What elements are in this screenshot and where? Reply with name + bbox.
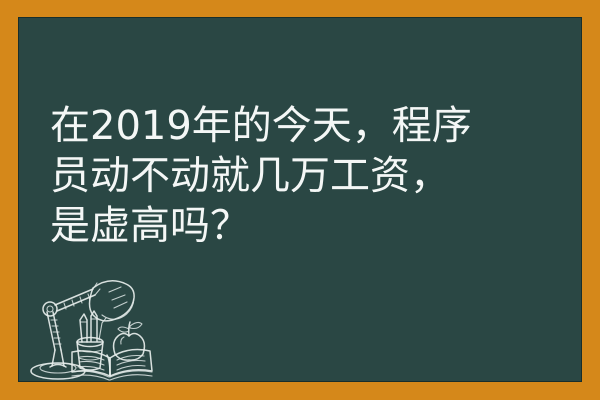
- desk-lamp-book-apple-icon: [18, 268, 182, 382]
- page-title: 在2019年的今天，程序 员动不动就几万工资， 是虚高吗？: [50, 101, 570, 251]
- poster-canvas: 在2019年的今天，程序 员动不动就几万工资， 是虚高吗？: [0, 0, 600, 400]
- poster-panel: 在2019年的今天，程序 员动不动就几万工资， 是虚高吗？: [18, 17, 582, 382]
